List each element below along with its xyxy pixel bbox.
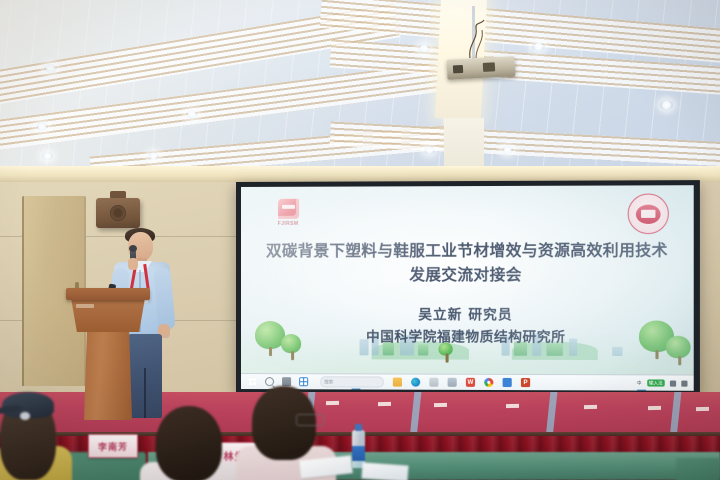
app-icon[interactable] [448,378,457,387]
powerpoint-icon[interactable] [521,378,530,387]
stage-floor-mark [326,401,339,405]
downlight [42,152,53,160]
fjirsm-logo-mark [278,199,299,219]
institute-seal-logo [628,193,669,234]
ceiling [0,0,720,178]
windows-logo-icon[interactable] [248,377,257,386]
projector-cables [462,18,496,60]
tray-ime-badge[interactable]: 输入法 [647,379,665,386]
chair-back [676,458,720,480]
nameplate-left-text: 李南芳 [98,440,128,453]
slide-speaker-name: 吴立新 研究员 [241,305,694,327]
search-input[interactable]: 搜索 [320,376,384,387]
lectern [66,288,150,420]
lectern-top [66,288,150,300]
volume-icon[interactable] [681,380,687,386]
downlight [502,146,513,154]
documents [361,462,408,480]
institute-seal-mark [636,204,661,223]
wall-loudspeaker [96,198,140,228]
downlight [186,110,198,119]
slide-organization: 中国科学院福建物质结构研究所 [241,327,694,349]
app-icon[interactable] [429,378,438,387]
open-app-indicator [637,389,646,390]
edge-icon[interactable] [411,378,420,387]
audience-member-head [156,406,222,480]
stage-floor-mark [584,405,597,409]
fjirsm-logo: FJIRSM [273,199,303,233]
windows-taskbar[interactable]: 搜索 中 输入法 [241,373,694,391]
tray-ime-text[interactable]: 中 [637,380,642,386]
downlight [148,152,159,160]
slide-title: 双碳背景下塑料与鞋服工业节材增效与资源高效利用技术 发展交流对接会 [263,238,671,287]
hair-clip [20,412,30,420]
folder-icon[interactable] [393,378,402,387]
bottle-label [352,446,365,461]
lectern-column [84,330,132,420]
downlight [424,146,435,154]
projection-screen-frame: FJIRSM 双碳背景下塑料与鞋服工业节材增效与资源高效利用技术 发展交流对接会… [236,180,700,396]
widgets-icon[interactable] [299,377,308,386]
nameplate-left: 李南芳 [88,434,138,458]
network-icon[interactable] [670,380,676,386]
fjirsm-logo-text: FJIRSM [273,221,303,227]
stage-floor-mark [506,404,519,408]
search-icon[interactable] [265,377,274,386]
downlight [532,42,545,51]
conference-hall-photo: FJIRSM 双碳背景下塑料与鞋服工业节材增效与资源高效利用技术 发展交流对接会… [0,0,720,480]
stage-floor-mark [648,406,661,410]
stage-floor-mark [378,402,391,406]
downlight [660,100,673,110]
presentation-slide[interactable]: FJIRSM 双碳背景下塑料与鞋服工业节材增效与资源高效利用技术 发展交流对接会… [241,185,694,391]
stage-floor-mark [434,403,447,407]
wps-icon[interactable] [466,378,475,387]
downlight [418,44,430,53]
stage-floor-mark [696,407,709,411]
blue-app-icon[interactable] [503,378,512,387]
slide-title-line-2: 发展交流对接会 [263,263,671,287]
lectern-plaque [76,304,94,308]
presenter-hand-holding-mic [128,258,138,270]
eyeglasses [296,414,324,426]
open-app-indicator [351,388,360,389]
task-view-icon[interactable] [282,377,291,386]
ceiling-projector [447,56,516,80]
downlight [36,122,48,131]
slide-title-line-1: 双碳背景下塑料与鞋服工业节材增效与资源高效利用技术 [263,238,671,263]
downlight [44,64,57,73]
chrome-icon[interactable] [484,378,493,387]
